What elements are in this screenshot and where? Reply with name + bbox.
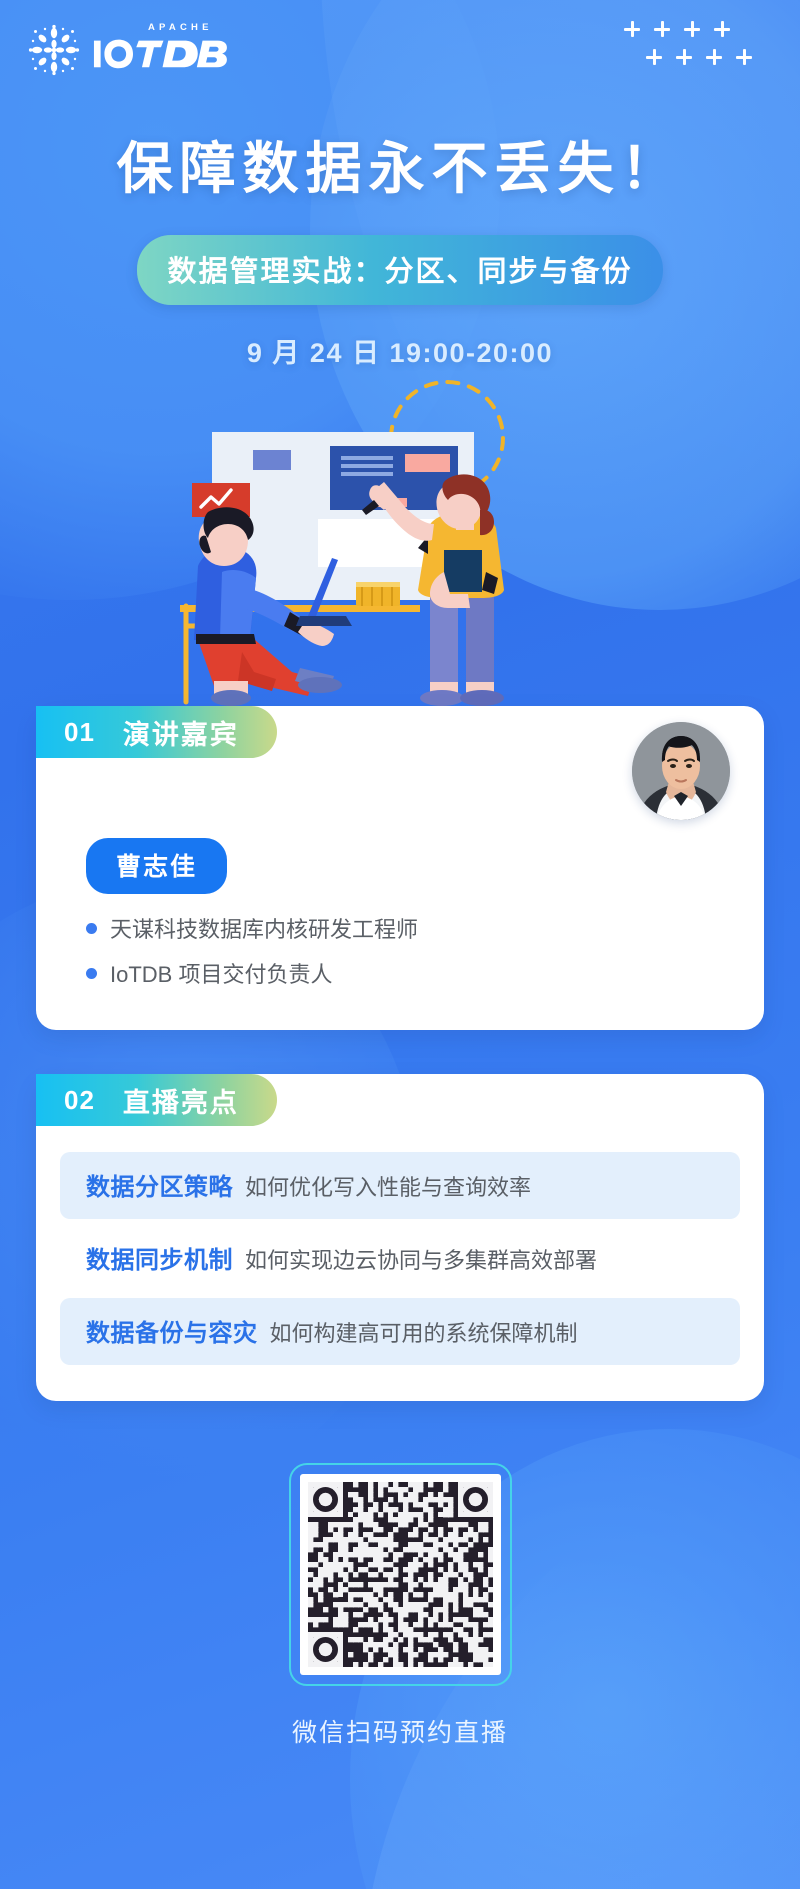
bullet-dot-icon [86,923,97,934]
brand-logo: APACHE [28,24,254,76]
section-number: 01 [64,717,95,748]
apache-label: APACHE [148,22,213,33]
speaker-card: 01 演讲嘉宾 [36,706,764,1030]
list-item-label: IoTDB 项目交付负责人 [110,957,332,989]
highlight-row: 数据备份与容灾 如何构建高可用的系统保障机制 [60,1298,740,1365]
speaker-bullet-list: 天谋科技数据库内核研发工程师 IoTDB 项目交付负责人 [86,912,764,989]
highlight-key: 数据备份与容灾 [86,1313,258,1348]
poster-header: APACHE [0,0,800,100]
qr-frame [289,1463,512,1686]
presentation-illustration-icon [0,376,800,706]
speaker-portrait-icon [632,722,730,820]
list-item-label: 天谋科技数据库内核研发工程师 [110,912,418,944]
iotdb-wordmark-icon [92,33,254,73]
section-header-highlights: 02 直播亮点 [36,1074,277,1126]
poster-root: APACHE [0,0,800,1889]
avatar-slot [632,706,764,820]
highlight-list: 数据分区策略 如何优化写入性能与查询效率 数据同步机制 如何实现边云协同与多集群… [60,1152,740,1365]
highlights-card: 02 直播亮点 数据分区策略 如何优化写入性能与查询效率 数据同步机制 如何实现… [36,1074,764,1401]
hero-title-block: 保障数据永不丢失！ 数据管理实战：分区、同步与备份 9 月 24 日 19:00… [0,124,800,370]
section-number: 02 [64,1085,95,1116]
highlight-description: 如何构建高可用的系统保障机制 [270,1316,578,1348]
speaker-header-row: 01 演讲嘉宾 [36,706,764,820]
list-item: 天谋科技数据库内核研发工程师 [86,912,764,944]
qr-white-border [300,1474,501,1675]
highlight-row: 数据分区策略 如何优化写入性能与查询效率 [60,1152,740,1219]
page-title: 保障数据永不丢失！ [0,124,800,205]
highlight-description: 如何优化写入性能与查询效率 [245,1170,531,1202]
speaker-name-badge: 曹志佳 [86,838,227,894]
highlight-description: 如何实现边云协同与多集群高效部署 [245,1243,597,1275]
plus-pattern-icon [624,15,764,85]
section-header-speaker: 01 演讲嘉宾 [36,706,277,758]
event-datetime: 9 月 24 日 19:00-20:00 [0,331,800,370]
highlight-key: 数据分区策略 [86,1167,233,1202]
qr-section: 微信扫码预约直播 [0,1463,800,1749]
qr-caption: 微信扫码预约直播 [0,1713,800,1749]
hero-subtitle-pill: 数据管理实战：分区、同步与备份 [137,235,662,305]
bullet-dot-icon [86,968,97,979]
list-item: IoTDB 项目交付负责人 [86,957,764,989]
qr-code-icon[interactable] [308,1482,493,1667]
section-label: 直播亮点 [123,1081,239,1120]
highlight-row: 数据同步机制 如何实现边云协同与多集群高效部署 [60,1225,740,1292]
section-label: 演讲嘉宾 [123,713,239,752]
iotdb-snowflake-logo-icon [28,24,80,76]
brand-wordmark: APACHE [92,27,254,73]
highlight-key: 数据同步机制 [86,1240,233,1275]
